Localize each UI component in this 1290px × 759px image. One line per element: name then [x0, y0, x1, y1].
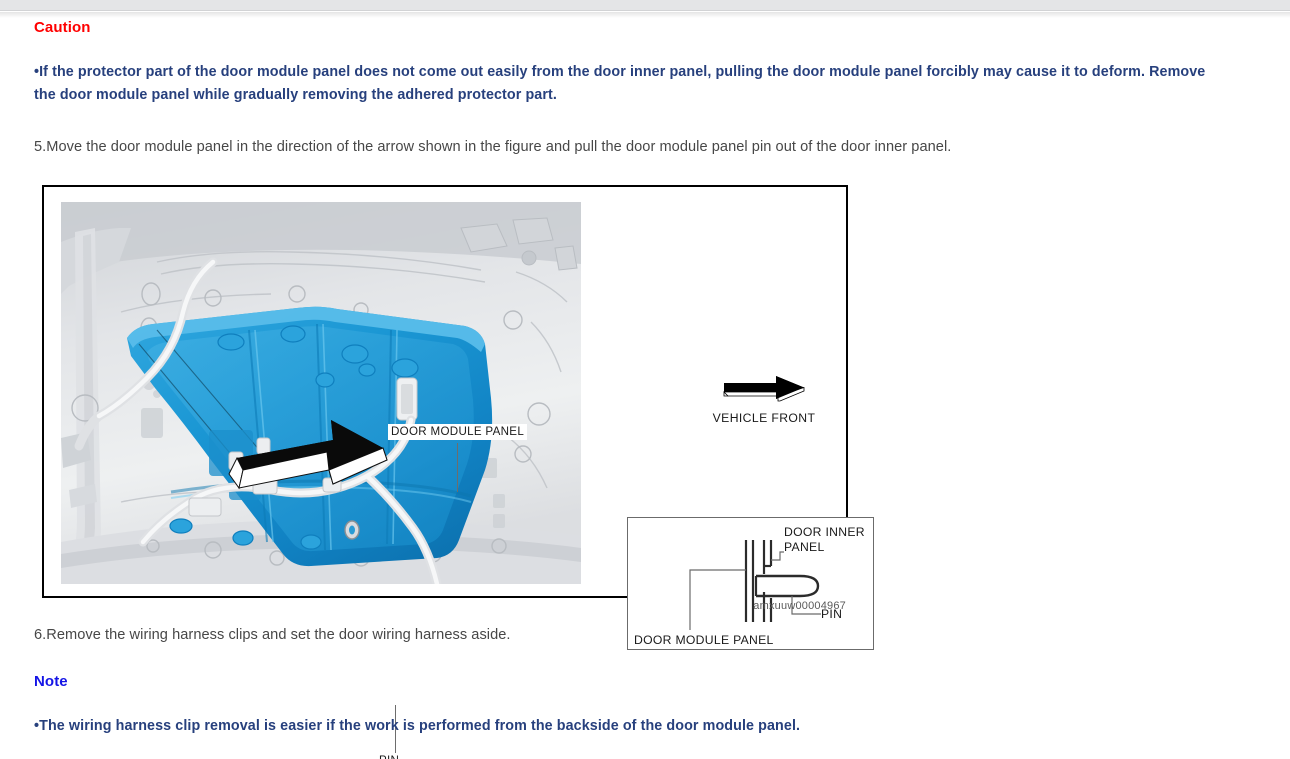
note-heading: Note	[34, 673, 68, 690]
pin-callout: PIN	[376, 753, 402, 759]
app-chrome-bar	[0, 0, 1290, 11]
inset-dip-line1: DOOR INNER	[784, 525, 865, 539]
figure-container: DOOR MODULE PANEL PIN VEHICLE FRONT	[42, 185, 848, 614]
document-body: Caution •If the protector part of the do…	[0, 18, 1290, 759]
figure-id-text: amxuuw00004967	[753, 600, 846, 612]
door-module-panel-callout: DOOR MODULE PANEL	[388, 424, 527, 440]
door-module-panel-leader-line	[457, 443, 458, 492]
door-panel-photo	[61, 202, 581, 584]
caution-heading: Caution	[34, 19, 91, 36]
inset-dip-line2: PANEL	[784, 540, 825, 554]
vehicle-front-indicator: VEHICLE FRONT	[704, 375, 824, 425]
vehicle-front-label: VEHICLE FRONT	[704, 411, 824, 425]
inset-door-module-panel-label: DOOR MODULE PANEL	[634, 633, 774, 648]
page-root: Caution •If the protector part of the do…	[0, 0, 1290, 759]
inset-door-inner-panel-label: DOOR INNER PANEL	[784, 525, 865, 555]
arrow-right-icon	[722, 375, 806, 403]
figure-border-box: DOOR MODULE PANEL PIN VEHICLE FRONT	[42, 185, 848, 598]
step-5-text: 5.Move the door module panel in the dire…	[34, 139, 951, 155]
door-panel-illustration	[61, 202, 581, 584]
caution-bullet-text: •If the protector part of the door modul…	[34, 61, 1219, 107]
note-bullet-text: •The wiring harness clip removal is easi…	[34, 715, 1219, 738]
step-6-text: 6.Remove the wiring harness clips and se…	[34, 627, 511, 643]
